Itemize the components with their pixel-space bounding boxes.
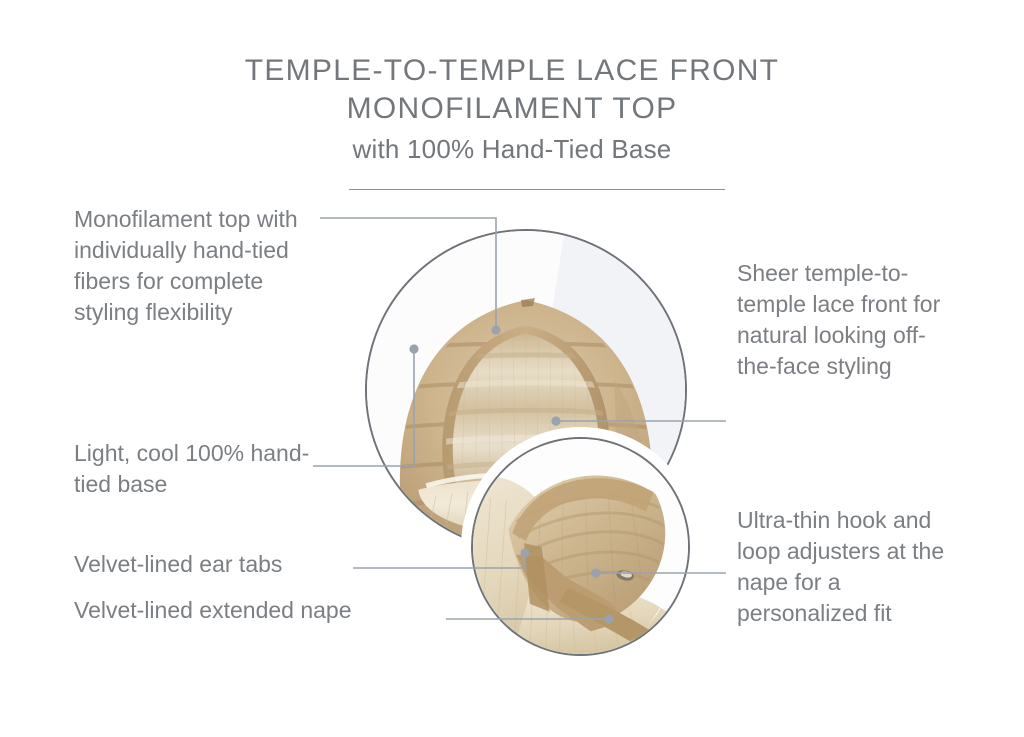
- diagram-canvas: TEMPLE-TO-TEMPLE LACE FRONT MONOFILAMENT…: [0, 0, 1024, 737]
- title-line-2: MONOFILAMENT TOP: [0, 90, 1024, 128]
- callout-hand-tied-base: Light, cool 100% hand-tied base: [74, 438, 324, 500]
- title-line-1: TEMPLE-TO-TEMPLE LACE FRONT: [0, 52, 1024, 90]
- callout-hook-loop-adjusters: Ultra-thin hook and loop adjusters at th…: [737, 505, 952, 629]
- callout-velvet-extended-nape: Velvet-lined extended nape: [74, 595, 444, 626]
- title-divider: [349, 189, 725, 190]
- nape-detail-illustration: [473, 439, 688, 654]
- callout-velvet-ear-tabs: Velvet-lined ear tabs: [74, 549, 364, 580]
- title-subtitle: with 100% Hand-Tied Base: [0, 130, 1024, 168]
- page-title: TEMPLE-TO-TEMPLE LACE FRONT MONOFILAMENT…: [0, 52, 1024, 168]
- callout-monofilament-top: Monofilament top with individually hand-…: [74, 204, 332, 328]
- callout-sheer-lace-front: Sheer temple-to-temple lace front for na…: [737, 258, 952, 382]
- wig-cap-nape-detail-photo: [471, 437, 690, 656]
